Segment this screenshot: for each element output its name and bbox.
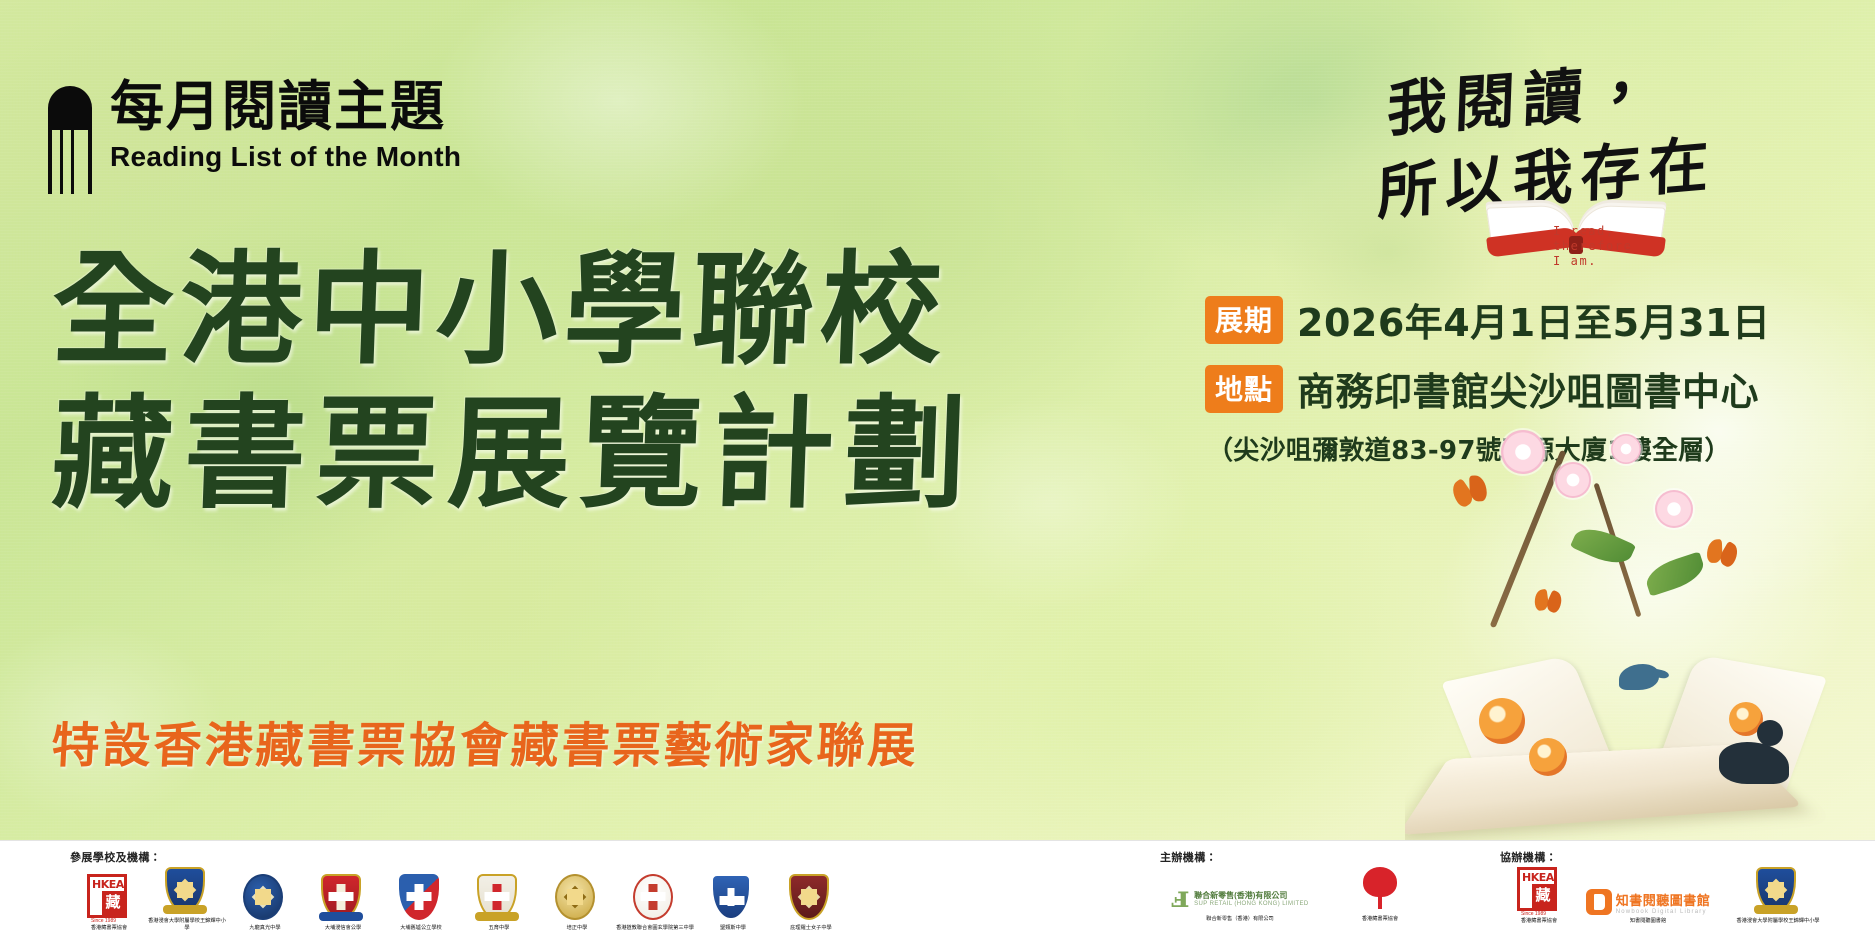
participants-label: 參展學校及機構：: [70, 849, 850, 865]
date-value: 2026年4月1日至5月31日: [1297, 292, 1770, 347]
supporter-label: 協辦機構：: [1500, 849, 1838, 865]
logo-item: 香港道教聯合會圓玄學院第三中學: [616, 874, 694, 932]
butterfly-icon: [1704, 538, 1739, 568]
logo-caption: 聖類斯中學: [694, 925, 772, 932]
school-crest-gold-oval: [555, 874, 599, 922]
logo-caption: 九龍真光中學: [226, 925, 304, 932]
logo-item: 香港浸會大學附屬學校王錦輝中小學: [1718, 867, 1838, 925]
slogan-en-line-1: I read,: [1553, 224, 1632, 239]
book-stack-icon: [48, 86, 92, 194]
butterfly-icon: [1450, 473, 1490, 508]
blossom-icon: [1501, 430, 1545, 474]
leaf-icon: [1642, 551, 1708, 596]
slogan-en-line-3: I am.: [1553, 254, 1632, 269]
logo-caption: 香港道教聯合會圓玄學院第三中學: [616, 925, 694, 932]
event-date-row: 展期 2026年4月1日至5月31日: [1205, 292, 1845, 347]
logo-item: 香港藏書票協會: [1320, 867, 1440, 923]
date-tag: 展期: [1205, 296, 1283, 344]
reader-silhouette: [1719, 720, 1789, 784]
supporter-logo-row: HKEA藏Since 1989 香港藏書票協會 知書閱聽圖書館 Nowbook …: [1500, 867, 1838, 925]
logo-item: ⅎ 聯合新零售(香港)有限公司 SUP RETAIL (HONG KONG) L…: [1160, 883, 1320, 923]
red-tree-logo: [1363, 867, 1397, 913]
footer: 參展學校及機構： HKEA藏Since 1989 香港藏書票協會 香港浸會大學附…: [0, 840, 1875, 938]
main-title: 全港中小學聯校 藏書票展覽計劃: [52, 238, 1012, 526]
nowbook-en: Nowbook Digital Library: [1616, 909, 1711, 915]
logo-caption: 大埔浸信會公學: [304, 925, 382, 932]
hkea-stamp-logo: HKEA藏Since 1989: [1517, 867, 1561, 915]
logo-caption: 知書閱聽圖書館: [1578, 918, 1718, 925]
logo-caption: 香港藏書票協會: [1500, 918, 1578, 925]
title-line-2: 藏書票展覽計劃: [49, 382, 1014, 526]
logo-item: 培正中學: [538, 874, 616, 932]
logo-caption: 培正中學: [538, 925, 616, 932]
masthead: 每月閱讀主題 Reading List of the Month: [48, 78, 461, 194]
logo-item: 聖類斯中學: [694, 874, 772, 932]
organiser-logo-row: ⅎ 聯合新零售(香港)有限公司 SUP RETAIL (HONG KONG) L…: [1160, 867, 1440, 923]
school-crest-navy-oval: [243, 874, 287, 922]
logo-caption: 五育中學: [460, 925, 538, 932]
logo-item: 香港浸會大學附屬學校王錦輝中小學: [148, 867, 226, 931]
school-crest-blue-gold: [1756, 867, 1800, 915]
school-crest-navy-red-shield: [477, 874, 521, 922]
logo-item: 大埔舊墟公立學校: [382, 874, 460, 932]
logo-item: 知書閱聽圖書館 Nowbook Digital Library 知書閱聽圖書館: [1578, 889, 1718, 925]
logo-caption: 大埔舊墟公立學校: [382, 925, 460, 932]
organiser-label: 主辦機構：: [1160, 849, 1440, 865]
title-subtitle: 特設香港藏書票協會藏書票藝術家聯展: [50, 706, 921, 776]
slogan-english: I read, therefore I am.: [1553, 224, 1632, 269]
blossom-icon: [1611, 434, 1641, 464]
participants-logo-row: HKEA藏Since 1989 香港藏書票協會 香港浸會大學附屬學校王錦輝中小學…: [70, 867, 850, 931]
blossom-icon: [1655, 490, 1693, 528]
logo-caption: 聯合新零售（香港）有限公司: [1160, 916, 1320, 923]
event-venue-row: 地點 商務印書館尖沙咀圖書中心: [1205, 361, 1845, 416]
butterfly-icon: [1533, 589, 1563, 613]
venue-value: 商務印書館尖沙咀圖書中心: [1297, 361, 1759, 416]
logo-item: 大埔浸信會公學: [304, 874, 382, 932]
nowbook-zh: 知書閱聽圖書館: [1616, 890, 1711, 909]
bird-icon: [1619, 664, 1659, 690]
poster-canvas: 每月閱讀主題 Reading List of the Month 我閱讀， 所以…: [0, 0, 1875, 938]
school-crest-white-red: [633, 874, 677, 922]
masthead-zh-title: 每月閱讀主題: [110, 78, 461, 135]
blossom-icon: [1555, 462, 1591, 498]
logo-item: HKEA藏Since 1989 香港藏書票協會: [70, 874, 148, 932]
nowbook-logo: 知書閱聽圖書館 Nowbook Digital Library: [1586, 889, 1711, 915]
book-app-icon: [1586, 889, 1612, 915]
logo-caption: 香港藏書票協會: [1320, 916, 1440, 923]
slogan-en-line-2: therefore: [1553, 239, 1632, 254]
flower-book-artwork: [1405, 420, 1875, 840]
school-crest-maroon: [789, 874, 833, 922]
slogan-calligraphy: 我閱讀， 所以我存在 I read, therefore I am.: [1377, 48, 1847, 248]
school-crest-sls-blue: [711, 874, 755, 922]
leaf-icon: [1570, 521, 1636, 571]
masthead-en-title: Reading List of the Month: [110, 141, 461, 173]
logo-caption: 香港浸會大學附屬學校王錦輝中小學: [1718, 918, 1838, 925]
logo-caption: 庇理羅士女子中學: [772, 925, 850, 932]
hkea-stamp-logo: HKEA藏Since 1989: [87, 874, 131, 922]
logo-item: 五育中學: [460, 874, 538, 932]
school-crest-red-blue-cross: [399, 874, 443, 922]
sup-retail-logo: ⅎ 聯合新零售(香港)有限公司 SUP RETAIL (HONG KONG) L…: [1171, 883, 1308, 913]
rose-icon: [1529, 738, 1567, 776]
logo-item: 九龍真光中學: [226, 874, 304, 932]
rose-icon: [1479, 698, 1525, 744]
logo-item: HKEA藏Since 1989 香港藏書票協會: [1500, 867, 1578, 925]
logo-item: 庇理羅士女子中學: [772, 874, 850, 932]
school-crest-red-shield: [321, 874, 365, 922]
logo-caption: 香港藏書票協會: [70, 925, 148, 932]
title-line-1: 全港中小學聯校: [49, 238, 1014, 382]
school-crest-blue-gold: [165, 867, 209, 915]
venue-tag: 地點: [1205, 365, 1283, 413]
logo-caption: 香港浸會大學附屬學校王錦輝中小學: [148, 918, 226, 931]
